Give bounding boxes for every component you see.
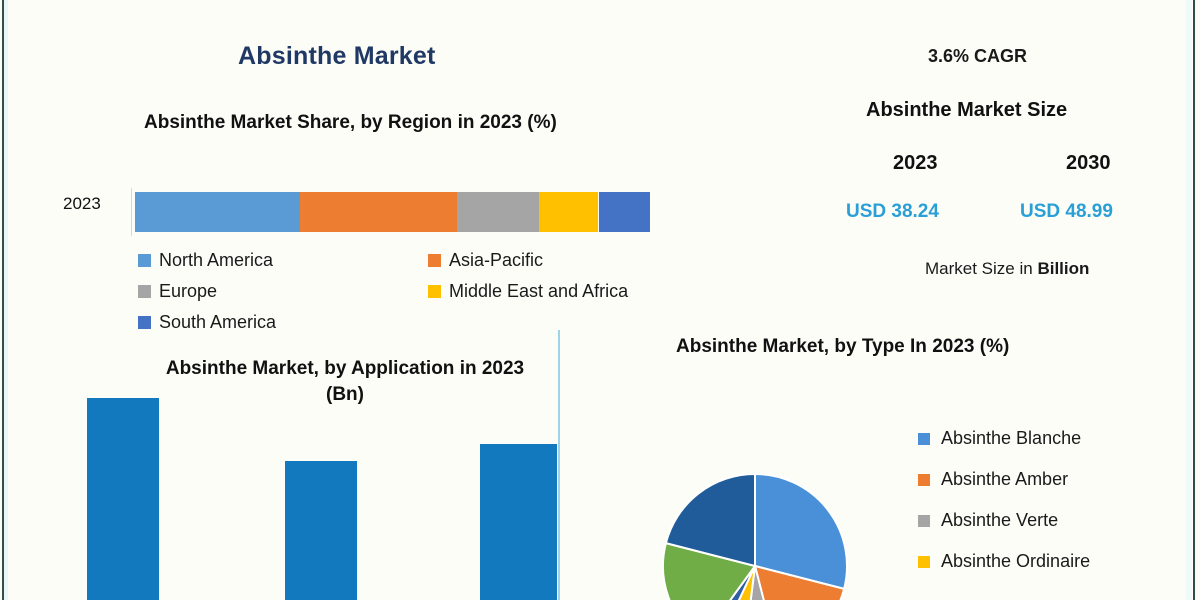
- type-chart-title: Absinthe Market, by Type In 2023 (%): [676, 336, 1009, 358]
- legend-swatch-icon: [918, 556, 930, 568]
- region-legend-item[interactable]: South America: [138, 312, 276, 333]
- unit-note-prefix: Market Size in: [925, 259, 1037, 278]
- region-legend-item[interactable]: North America: [138, 250, 273, 271]
- type-legend-item[interactable]: Absinthe Verte: [918, 500, 1090, 541]
- legend-swatch-icon: [138, 285, 151, 298]
- legend-swatch-icon: [428, 254, 441, 267]
- left-frame-border: [2, 0, 4, 600]
- application-chart-title: Absinthe Market, by Application in 2023 …: [110, 356, 580, 407]
- region-legend-item[interactable]: Asia-Pacific: [428, 250, 543, 271]
- region-chart-axis-line: [131, 188, 132, 236]
- application-bar[interactable]: [285, 461, 357, 600]
- market-size-year-start: 2023: [893, 152, 938, 175]
- legend-swatch-icon: [918, 515, 930, 527]
- unit-note-bold: Billion: [1037, 259, 1089, 278]
- region-segment-north-america[interactable]: [135, 192, 300, 232]
- page-title: Absinthe Market: [238, 42, 435, 71]
- application-bar[interactable]: [480, 444, 557, 600]
- application-title-line2: (Bn): [110, 382, 580, 408]
- region-legend-label: Europe: [159, 281, 217, 302]
- region-chart-tick-2023: 2023: [63, 194, 101, 214]
- type-pie-chart[interactable]: [645, 455, 870, 600]
- type-legend: Absinthe BlancheAbsinthe AmberAbsinthe V…: [918, 418, 1090, 582]
- region-legend-label: Middle East and Africa: [449, 281, 628, 302]
- type-legend-item[interactable]: Absinthe Amber: [918, 459, 1090, 500]
- region-legend-item[interactable]: Europe: [138, 281, 217, 302]
- market-size-value-end: USD 48.99: [1020, 201, 1113, 223]
- region-chart-title: Absinthe Market Share, by Region in 2023…: [144, 112, 557, 134]
- region-segment-middle-east-and-africa[interactable]: [539, 192, 598, 232]
- legend-swatch-icon: [428, 285, 441, 298]
- legend-swatch-icon: [138, 254, 151, 267]
- application-title-line1: Absinthe Market, by Application in 2023: [110, 356, 580, 382]
- pie-svg: [645, 455, 870, 600]
- region-legend-label: Asia-Pacific: [449, 250, 543, 271]
- legend-swatch-icon: [918, 474, 930, 486]
- left-frame-highlight: [4, 0, 8, 600]
- type-legend-label: Absinthe Amber: [941, 469, 1068, 490]
- type-legend-item[interactable]: Absinthe Ordinaire: [918, 541, 1090, 582]
- market-size-year-end: 2030: [1066, 152, 1111, 175]
- market-size-heading: Absinthe Market Size: [866, 99, 1067, 122]
- cagr-value: 3.6% CAGR: [928, 46, 1027, 67]
- legend-swatch-icon: [138, 316, 151, 329]
- region-stacked-bar[interactable]: [135, 192, 650, 232]
- region-legend-item[interactable]: Middle East and Africa: [428, 281, 628, 302]
- region-legend-label: North America: [159, 250, 273, 271]
- legend-swatch-icon: [918, 433, 930, 445]
- type-legend-label: Absinthe Verte: [941, 510, 1058, 531]
- infographic-canvas: Absinthe Market Absinthe Market Share, b…: [0, 0, 1200, 600]
- region-segment-asia-pacific[interactable]: [300, 192, 457, 232]
- right-frame-highlight: [1186, 0, 1192, 600]
- type-legend-label: Absinthe Ordinaire: [941, 551, 1090, 572]
- region-legend-label: South America: [159, 312, 276, 333]
- type-legend-label: Absinthe Blanche: [941, 428, 1081, 449]
- application-bar[interactable]: [87, 398, 159, 600]
- market-size-unit-note: Market Size in Billion: [925, 259, 1089, 279]
- region-segment-south-america[interactable]: [599, 192, 651, 232]
- right-frame-border: [1193, 0, 1195, 600]
- market-size-value-start: USD 38.24: [846, 201, 939, 223]
- region-segment-europe[interactable]: [457, 192, 539, 232]
- type-legend-item[interactable]: Absinthe Blanche: [918, 418, 1090, 459]
